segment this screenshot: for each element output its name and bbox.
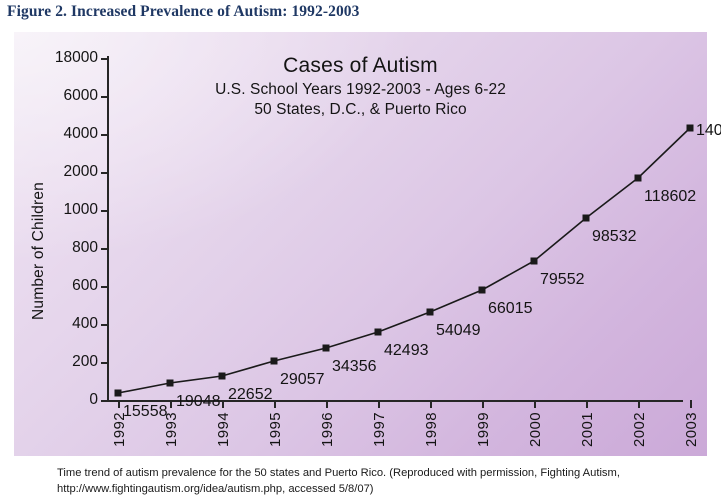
- data-label-2003: 140920: [696, 122, 721, 140]
- data-point-1997: [375, 329, 382, 336]
- data-point-2001: [583, 215, 590, 222]
- y-tick-label: 0: [89, 391, 98, 409]
- data-point-1994: [219, 373, 226, 380]
- x-tick-label-2001: 2001: [579, 412, 596, 447]
- data-label-1999: 66015: [488, 300, 533, 318]
- x-tick-label-1999: 1999: [475, 412, 492, 447]
- x-tick-label-1994: 1994: [215, 412, 232, 447]
- y-tick-label: 400: [72, 315, 98, 333]
- y-tick-label: 1000: [64, 201, 98, 219]
- x-tick-mark-2003: [690, 400, 692, 408]
- data-label-1997: 42493: [384, 342, 429, 360]
- data-label-1993: 19048: [176, 393, 221, 411]
- y-tick-label: 18000: [55, 49, 98, 67]
- x-tick-label-2000: 2000: [527, 412, 544, 447]
- x-tick-label-2003: 2003: [683, 412, 700, 447]
- data-point-1999: [479, 287, 486, 294]
- data-point-1996: [323, 345, 330, 352]
- data-label-2000: 79552: [540, 271, 585, 289]
- data-point-1998: [427, 309, 434, 316]
- y-tick-label: 600: [72, 277, 98, 295]
- y-tick-label: 200: [72, 353, 98, 371]
- data-label-1995: 29057: [280, 371, 325, 389]
- x-tick-label-1996: 1996: [319, 412, 336, 447]
- y-tick-label: 6000: [64, 87, 98, 105]
- data-label-1992: 15558: [123, 403, 168, 421]
- x-tick-label-1997: 1997: [371, 412, 388, 447]
- x-tick-label-1998: 1998: [423, 412, 440, 447]
- x-tick-label-1995: 1995: [267, 412, 284, 447]
- data-point-1993: [167, 380, 174, 387]
- data-label-1996: 34356: [332, 358, 377, 376]
- page-title: Figure 2. Increased Prevalence of Autism…: [7, 3, 360, 21]
- data-label-1998: 54049: [436, 322, 481, 340]
- data-point-2000: [531, 258, 538, 265]
- data-label-2002: 118602: [644, 188, 696, 206]
- figure-caption: Time trend of autism prevalence for the …: [57, 466, 677, 497]
- data-label-1994: 22652: [228, 386, 273, 404]
- x-tick-label-2002: 2002: [631, 412, 648, 447]
- y-tick-label: 2000: [64, 163, 98, 181]
- y-axis-title: Number of Children: [30, 182, 48, 320]
- data-label-2001: 98532: [592, 228, 637, 246]
- data-point-2003: [687, 125, 694, 132]
- data-point-1992: [115, 390, 122, 397]
- data-point-2002: [635, 175, 642, 182]
- chart-panel: Cases of Autism U.S. School Years 1992-2…: [14, 32, 707, 456]
- plot-area: 0200400600800100020004000600018000 19921…: [107, 56, 682, 400]
- y-tick-label: 800: [72, 239, 98, 257]
- data-point-1995: [271, 358, 278, 365]
- y-tick-label: 4000: [64, 125, 98, 143]
